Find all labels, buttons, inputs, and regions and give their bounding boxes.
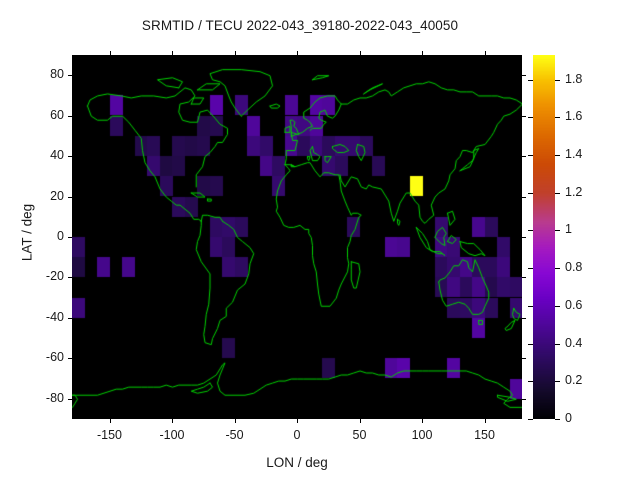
colorbar-tick-label: 0.4 (565, 336, 582, 350)
y-tick-mark (68, 156, 72, 157)
y-tick-mark (522, 399, 526, 400)
x-tick-mark (235, 51, 236, 55)
y-tick-label: -20 (24, 269, 64, 283)
x-tick-mark (110, 51, 111, 55)
y-tick-label: -40 (24, 310, 64, 324)
colorbar-gradient (533, 55, 555, 419)
figure-root: SRMTID / TECU 2022-043_39180-2022-043_40… (0, 0, 640, 480)
colorbar-tick-mark (555, 344, 560, 345)
y-tick-mark (68, 237, 72, 238)
colorbar-tick-label: 0.8 (565, 260, 582, 274)
x-tick-label: 50 (330, 428, 390, 442)
x-tick-mark (485, 51, 486, 55)
y-tick-mark (68, 358, 72, 359)
colorbar-tick-mark (555, 193, 560, 194)
colorbar-tick-label: 1.6 (565, 109, 582, 123)
colorbar-tick-mark (555, 117, 560, 118)
colorbar-tick-mark (555, 381, 560, 382)
colorbar-tick-label: 1.8 (565, 72, 582, 86)
x-tick-label: -150 (80, 428, 140, 442)
colorbar-tick-label: 0.2 (565, 373, 582, 387)
x-tick-mark (172, 51, 173, 55)
colorbar-tick-mark (555, 419, 560, 420)
colorbar[interactable] (533, 55, 555, 419)
x-tick-mark (485, 419, 486, 423)
y-tick-mark (68, 75, 72, 76)
colorbar-tick-mark (555, 155, 560, 156)
y-tick-label: -60 (24, 350, 64, 364)
colorbar-tick-label: 1.2 (565, 185, 582, 199)
colorbar-tick-label: 0.6 (565, 298, 582, 312)
colorbar-tick-mark (528, 419, 533, 420)
colorbar-tick-mark (555, 80, 560, 81)
colorbar-tick-label: 0 (565, 411, 572, 425)
coastline-layer (72, 55, 522, 419)
x-tick-label: -50 (205, 428, 265, 442)
y-tick-mark (522, 75, 526, 76)
y-tick-mark (522, 358, 526, 359)
y-tick-label: 40 (24, 148, 64, 162)
y-tick-mark (68, 399, 72, 400)
map-plot-area[interactable] (72, 55, 522, 419)
x-tick-label: 150 (455, 428, 515, 442)
x-tick-mark (297, 419, 298, 423)
y-tick-mark (522, 318, 526, 319)
y-tick-mark (522, 197, 526, 198)
colorbar-tick-mark (555, 230, 560, 231)
x-tick-mark (422, 51, 423, 55)
x-axis-title: LON / deg (72, 455, 522, 470)
x-tick-label: 0 (267, 428, 327, 442)
y-tick-mark (522, 277, 526, 278)
colorbar-tick-label: 1 (565, 222, 572, 236)
colorbar-tick-mark (555, 306, 560, 307)
y-tick-mark (522, 156, 526, 157)
y-tick-label: 60 (24, 108, 64, 122)
chart-title: SRMTID / TECU 2022-043_39180-2022-043_40… (0, 18, 600, 33)
y-tick-label: -80 (24, 391, 64, 405)
y-tick-mark (68, 197, 72, 198)
x-tick-mark (360, 51, 361, 55)
x-tick-label: -100 (142, 428, 202, 442)
y-tick-mark (68, 116, 72, 117)
y-tick-mark (522, 116, 526, 117)
x-tick-mark (297, 51, 298, 55)
x-tick-mark (360, 419, 361, 423)
y-tick-label: 80 (24, 67, 64, 81)
x-tick-mark (172, 419, 173, 423)
y-tick-label: 0 (24, 229, 64, 243)
x-tick-mark (110, 419, 111, 423)
y-tick-label: 20 (24, 189, 64, 203)
x-tick-label: 100 (392, 428, 452, 442)
colorbar-tick-mark (555, 268, 560, 269)
y-tick-mark (68, 318, 72, 319)
x-tick-mark (235, 419, 236, 423)
x-tick-mark (422, 419, 423, 423)
y-tick-mark (522, 237, 526, 238)
y-tick-mark (68, 277, 72, 278)
colorbar-tick-label: 1.4 (565, 147, 582, 161)
